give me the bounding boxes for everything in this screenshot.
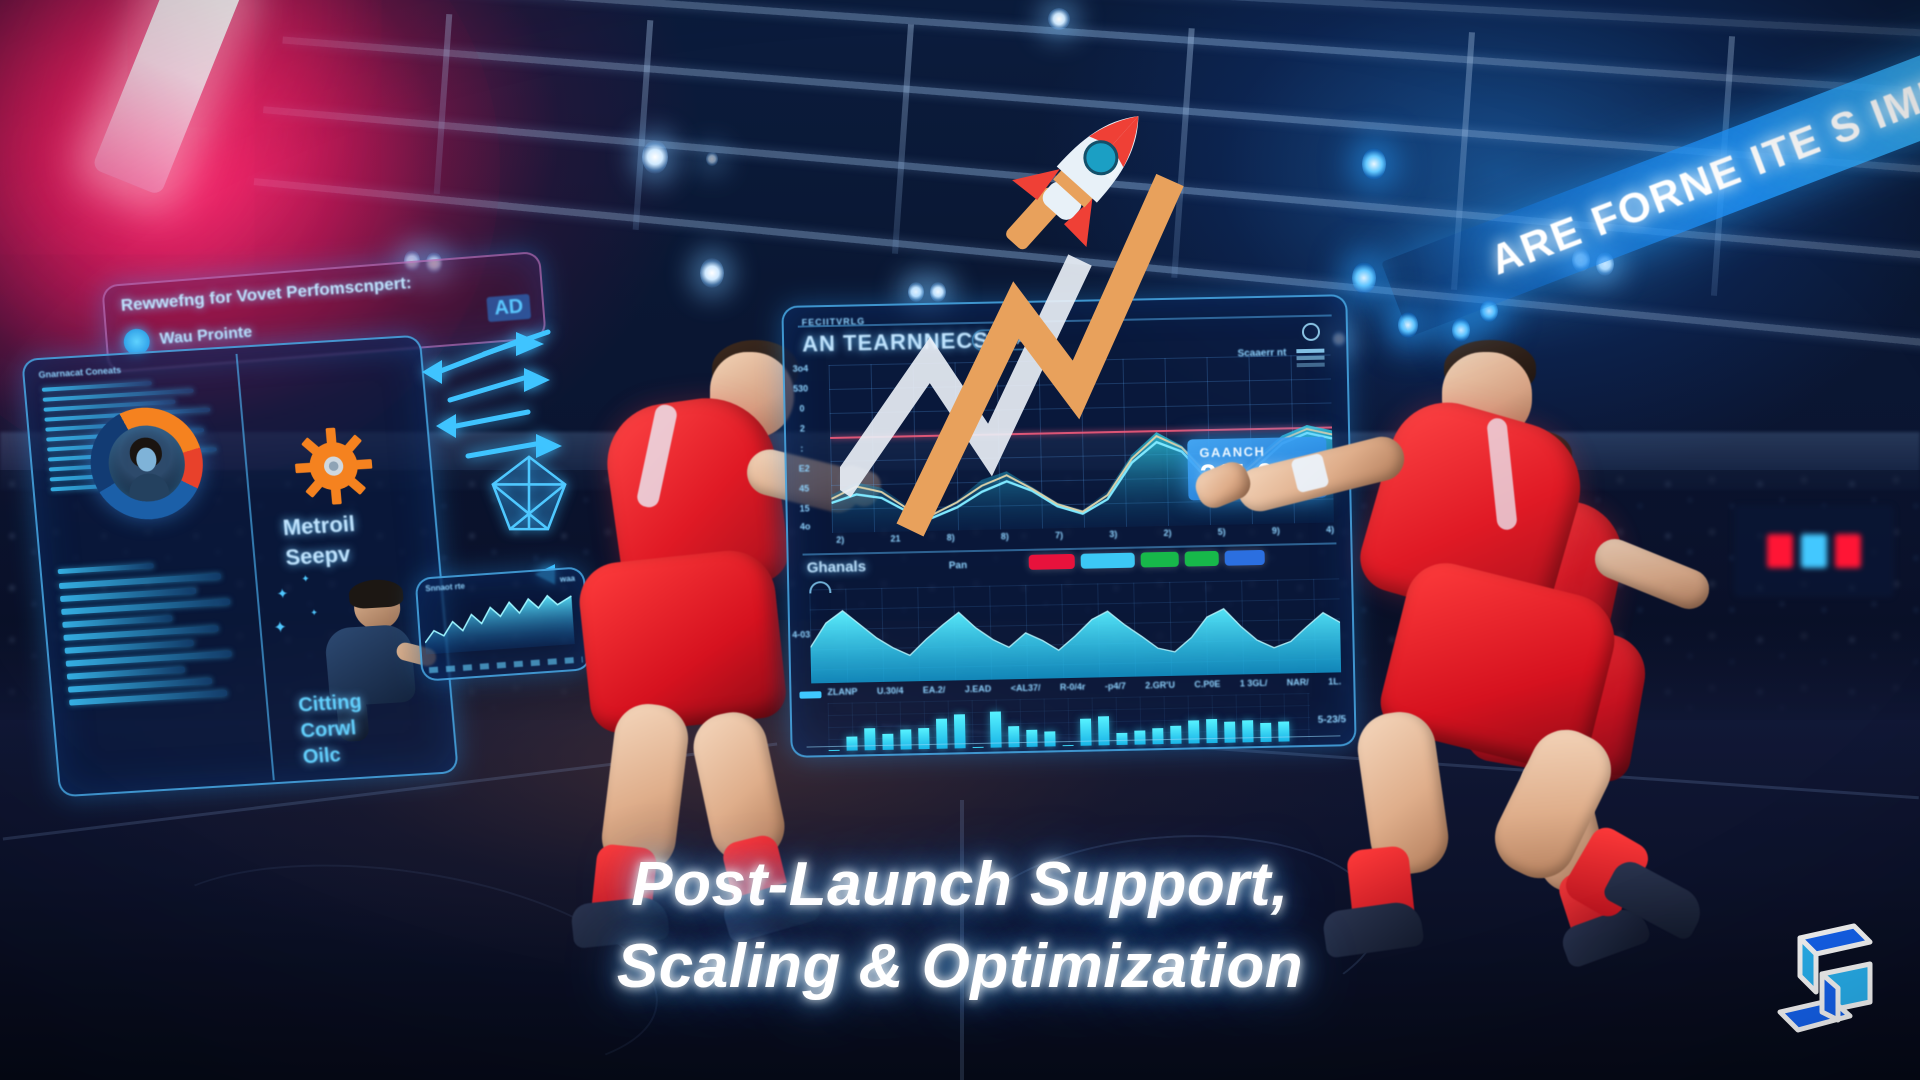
left-panel-label-5: Oilc bbox=[302, 744, 342, 769]
sparkle-icon: ✦ bbox=[273, 617, 288, 638]
tag-chip[interactable] bbox=[1185, 551, 1219, 567]
center-panel-section2-title: Ghanals bbox=[807, 558, 867, 576]
gear-icon bbox=[290, 424, 377, 509]
left-hologram-group: Rewwefng for Vovet Perfomscnpert: AD Wau… bbox=[0, 268, 560, 788]
left-panel-mini-card-title: Snnaot rte bbox=[425, 582, 465, 594]
center-panel-tag-row[interactable] bbox=[1029, 550, 1265, 570]
player-foreground-right bbox=[1300, 340, 1720, 960]
center-area-chart bbox=[809, 578, 1341, 683]
area-chart-y-label: 4-03 bbox=[792, 629, 810, 639]
center-panel-circle-icon[interactable] bbox=[1302, 323, 1320, 341]
left-panel-header-title: Rewwefng for Vovet Perfomscnpert: bbox=[120, 270, 451, 316]
center-panel-section2-meta: Pan bbox=[949, 560, 968, 571]
left-panel-column-a: Gnarnacat Coneats bbox=[38, 358, 264, 786]
left-panel-label-3: Citting bbox=[297, 691, 362, 718]
left-panel-label-1: Metroil bbox=[282, 511, 356, 541]
tag-chip[interactable] bbox=[1141, 552, 1179, 568]
scoreboard bbox=[1734, 505, 1894, 597]
left-panel-rows-lower bbox=[58, 558, 254, 713]
line-chart-y-axis: 3o4 530 0 2 : E2 45 15 4o bbox=[791, 363, 831, 540]
poster-canvas: Rewwefng for Vovet Perfomscnpert: AD Wau… bbox=[0, 0, 1920, 1080]
tag-chip[interactable] bbox=[1081, 553, 1135, 569]
brand-logo[interactable] bbox=[1766, 916, 1878, 1048]
center-bar-chart bbox=[828, 693, 1311, 751]
left-panel-main-card[interactable]: Gnarnacat Coneats bbox=[21, 335, 459, 798]
tag-chip[interactable] bbox=[1225, 550, 1265, 566]
sparkle-icon: ✦ bbox=[276, 585, 289, 603]
left-panel-column-a-caption: Gnarnacat Coneats bbox=[38, 358, 229, 380]
left-panel-label-4: Corwl bbox=[300, 717, 357, 743]
left-panel-label-2: Seepv bbox=[284, 541, 351, 571]
bottom-axis-legend-chip bbox=[799, 691, 821, 698]
tag-chip[interactable] bbox=[1029, 554, 1075, 570]
sparkle-icon: ✦ bbox=[301, 574, 310, 585]
